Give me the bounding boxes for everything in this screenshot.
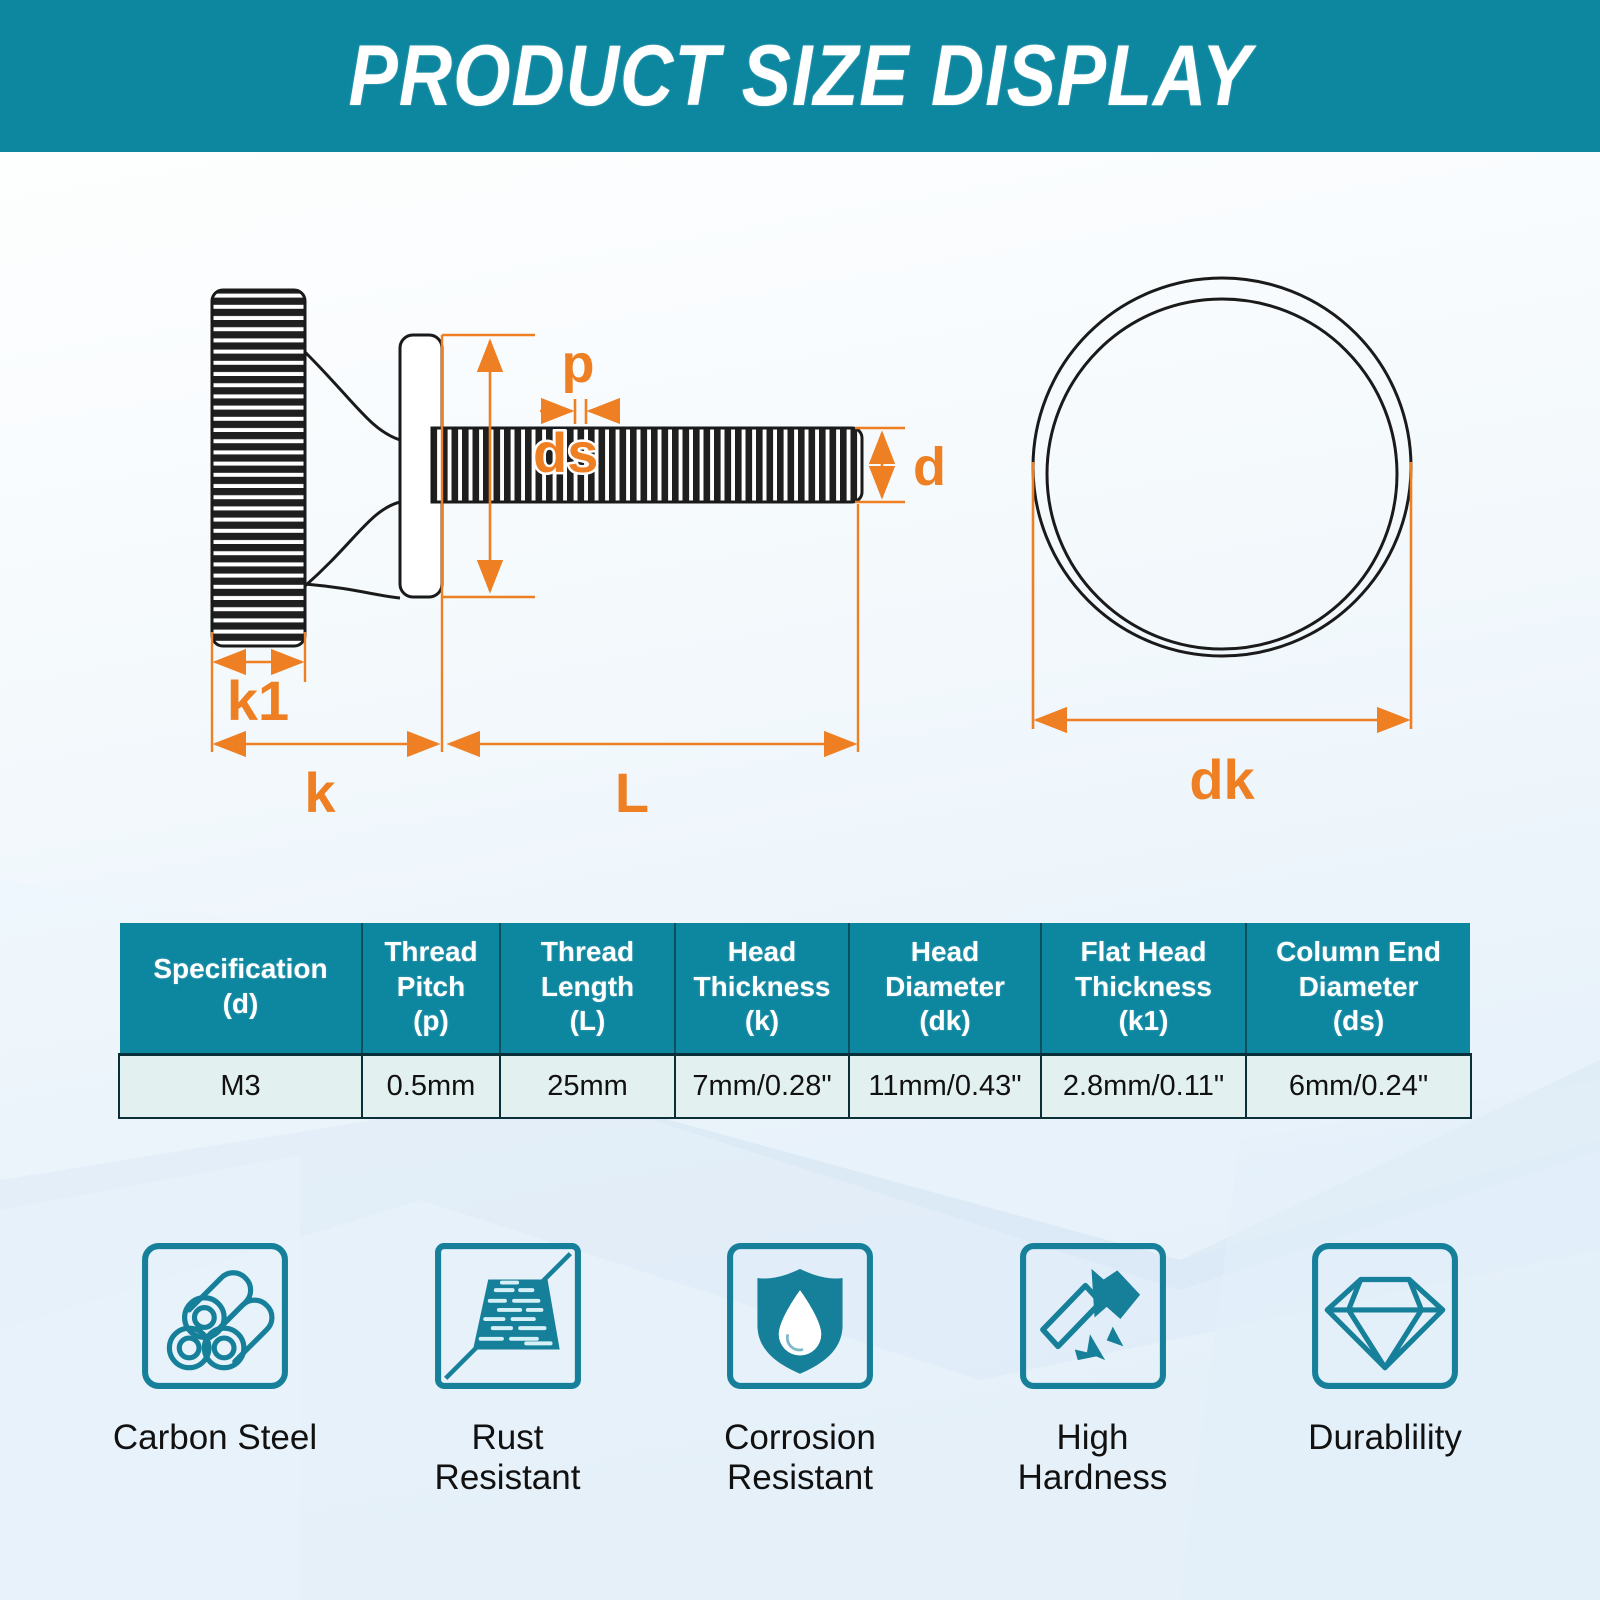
column-header-head-diameter: HeadDiameter (dk) <box>849 923 1041 1055</box>
feature-high-hardness: High Hardness <box>958 1240 1228 1497</box>
cell-specification: M3 <box>120 1055 362 1117</box>
dimension-label-k1: k1 <box>227 669 289 732</box>
column-header-specification: Specification (d) <box>120 923 362 1055</box>
column-header-symbol: (L) <box>505 1004 670 1039</box>
threaded-shank <box>432 428 862 502</box>
shield-water-drop-icon <box>724 1240 876 1392</box>
drawing-svg: ds p d k1 <box>0 152 1600 892</box>
column-header-name: Column EndDiameter <box>1276 936 1441 1002</box>
column-header-thread-pitch: ThreadPitch (p) <box>362 923 500 1055</box>
technical-drawing: ds p d k1 <box>0 152 1600 892</box>
page-title: PRODUCT SIZE DISPLAY <box>348 27 1251 126</box>
head-taper-bottom <box>305 502 400 586</box>
column-header-symbol: (ds) <box>1251 1004 1466 1039</box>
column-header-column-end-diameter: Column EndDiameter (ds) <box>1246 923 1470 1055</box>
column-header-symbol: (p) <box>367 1004 495 1039</box>
cell-head-thickness: 7mm/0.28" <box>675 1055 849 1117</box>
column-header-name: HeadThickness <box>694 936 831 1002</box>
column-header-name: Flat HeadThickness <box>1075 936 1212 1002</box>
cell-column-end-diameter: 6mm/0.24" <box>1246 1055 1470 1117</box>
column-header-head-thickness: HeadThickness (k) <box>675 923 849 1055</box>
page-header-banner: PRODUCT SIZE DISPLAY <box>0 0 1600 152</box>
feature-rust-resistant: Rust Resistant <box>373 1240 643 1497</box>
dimension-dk <box>1033 462 1411 729</box>
feature-carbon-steel: Carbon Steel <box>80 1240 350 1458</box>
column-header-symbol: (d) <box>124 987 357 1022</box>
feature-label: High Hardness <box>1018 1418 1168 1497</box>
column-header-thread-length: ThreadLength (L) <box>500 923 675 1055</box>
feature-durability: Durablility <box>1250 1240 1520 1458</box>
column-header-symbol: (k1) <box>1046 1004 1241 1039</box>
cell-flat-head-thickness: 2.8mm/0.11" <box>1041 1055 1246 1117</box>
dimension-L <box>449 504 858 752</box>
dimension-label-d: d <box>913 437 946 497</box>
product-size-display-page: PRODUCT SIZE DISPLAY <box>0 0 1600 1600</box>
dimension-label-dk: dk <box>1189 748 1255 811</box>
dimension-ds <box>442 335 535 752</box>
cell-thread-length: 25mm <box>500 1055 675 1117</box>
feature-corrosion-resistant: Corrosion Resistant <box>665 1240 935 1497</box>
hammer-icon <box>1017 1240 1169 1392</box>
table-header-row: Specification (d) ThreadPitch (p) Thread… <box>120 923 1470 1055</box>
column-header-name: HeadDiameter <box>885 936 1005 1002</box>
feature-list: Carbon Steel Rust Resistant <box>80 1240 1520 1497</box>
feature-label: Rust Resistant <box>435 1418 581 1497</box>
dimension-label-k: k <box>304 761 336 824</box>
feature-label: Durablility <box>1308 1418 1462 1458</box>
head-taper-top <box>305 352 400 440</box>
rust-sheet-crossed-icon <box>432 1240 584 1392</box>
specification-table: Specification (d) ThreadPitch (p) Thread… <box>120 923 1470 1117</box>
dimension-label-ds: ds <box>533 421 598 484</box>
column-header-name: ThreadPitch <box>384 936 477 1002</box>
knurled-head <box>212 290 305 646</box>
column-header-name: Specification <box>153 953 327 984</box>
diamond-icon <box>1309 1240 1461 1392</box>
column-header-symbol: (k) <box>680 1004 844 1039</box>
dimension-label-L: L <box>615 761 649 824</box>
column-header-symbol: (dk) <box>854 1004 1036 1039</box>
cell-head-diameter: 11mm/0.43" <box>849 1055 1041 1117</box>
table-row: M3 0.5mm 25mm 7mm/0.28" 11mm/0.43" 2.8mm… <box>120 1055 1470 1117</box>
dimension-label-p: p <box>562 334 595 394</box>
column-header-name: ThreadLength <box>541 936 634 1002</box>
cell-thread-pitch: 0.5mm <box>362 1055 500 1117</box>
feature-label: Corrosion Resistant <box>724 1418 876 1497</box>
column-header-flat-head-thickness: Flat HeadThickness (k1) <box>1041 923 1246 1055</box>
steel-pipes-icon <box>139 1240 291 1392</box>
feature-label: Carbon Steel <box>113 1418 317 1458</box>
head-top-view <box>1033 278 1411 656</box>
